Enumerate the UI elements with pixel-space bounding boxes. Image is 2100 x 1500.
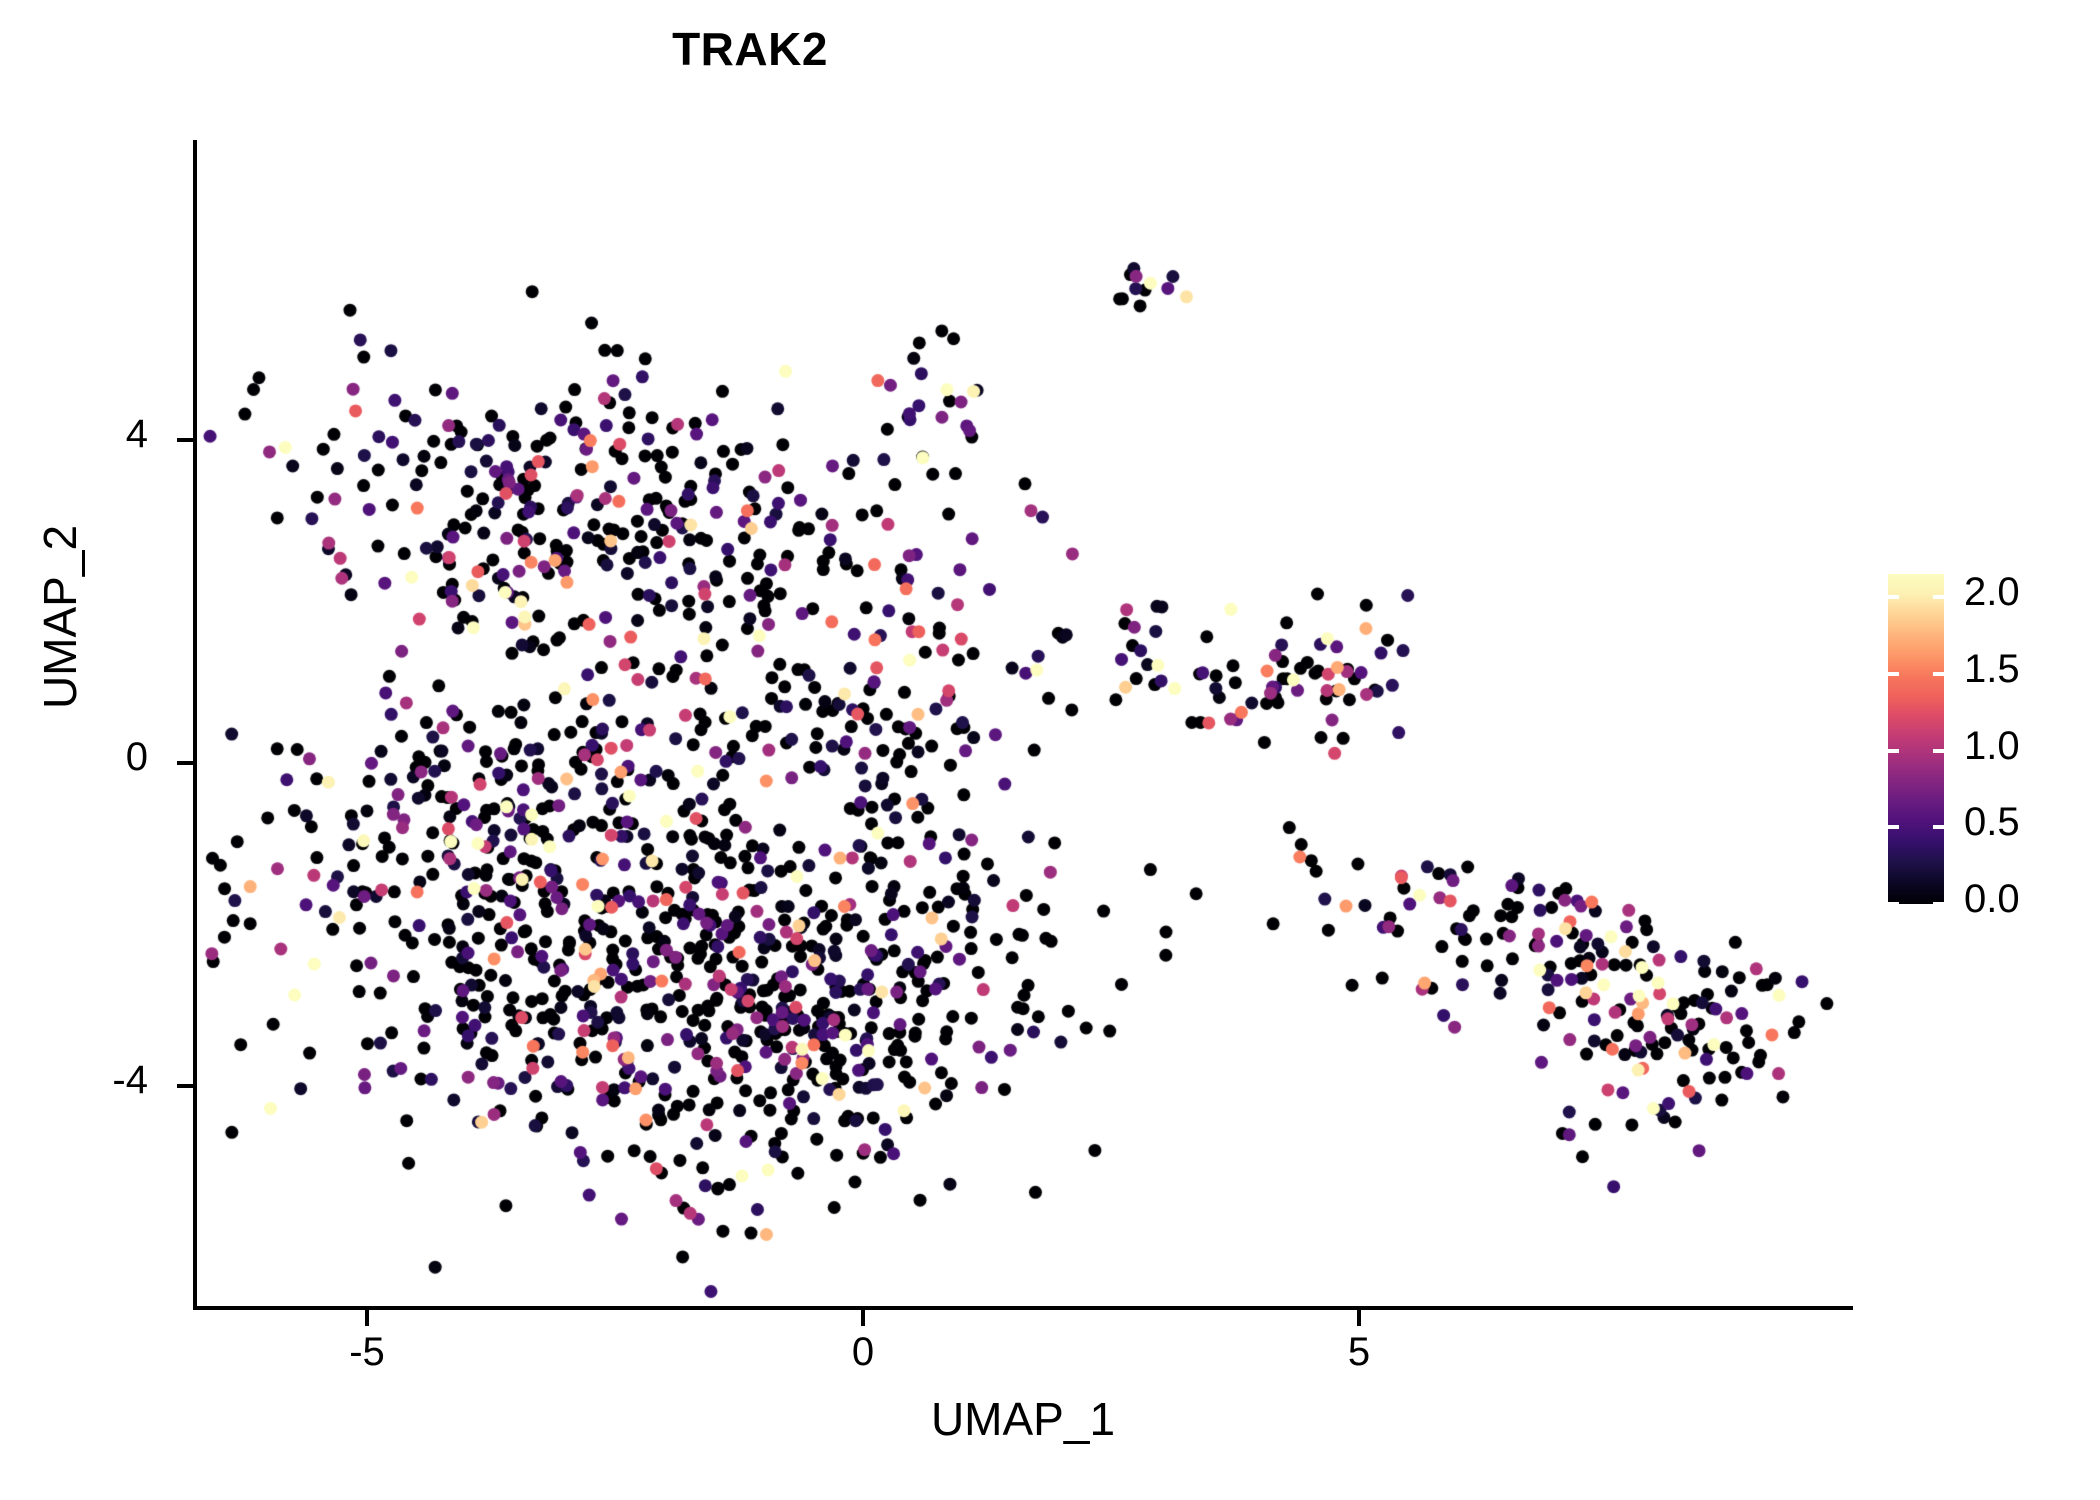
colorbar-tick-label: 1.0 xyxy=(1964,724,2094,769)
colorbar-tick-label: 0.5 xyxy=(1964,800,2094,845)
colorbar-tick-label: 0.0 xyxy=(1964,877,2094,922)
y-tick-label: -4 xyxy=(28,1058,148,1103)
colorbar-tick-mark xyxy=(1933,825,1944,829)
x-tick-label: -5 xyxy=(287,1330,447,1375)
colorbar-tick-mark xyxy=(1933,595,1944,599)
x-tick-label: 0 xyxy=(783,1330,943,1375)
plot-panel: UMAP_1 UMAP_2 -404-505 xyxy=(0,0,2100,1500)
colorbar-tick-mark xyxy=(1888,902,1899,906)
scatter-canvas xyxy=(0,0,2100,1500)
x-tick-mark xyxy=(1357,1310,1361,1326)
x-tick-label: 5 xyxy=(1279,1330,1439,1375)
y-tick-label: 4 xyxy=(28,412,148,457)
colorbar-tick-mark xyxy=(1888,595,1899,599)
y-tick-mark xyxy=(177,761,193,765)
y-tick-mark xyxy=(177,438,193,442)
colorbar-tick-mark xyxy=(1933,902,1944,906)
y-tick-mark xyxy=(177,1084,193,1088)
colorbar-gradient xyxy=(1888,574,1944,904)
colorbar-tick-mark xyxy=(1933,672,1944,676)
y-axis-line xyxy=(193,140,197,1310)
colorbar-tick-mark xyxy=(1933,749,1944,753)
x-axis-line xyxy=(193,1306,1853,1310)
y-tick-label: 0 xyxy=(28,735,148,780)
colorbar-tick-label: 2.0 xyxy=(1964,570,2094,615)
colorbar-tick-mark xyxy=(1888,749,1899,753)
x-axis-title: UMAP_1 xyxy=(193,1392,1853,1446)
x-tick-mark xyxy=(365,1310,369,1326)
colorbar-tick-mark xyxy=(1888,825,1899,829)
colorbar-tick-label: 1.5 xyxy=(1964,647,2094,692)
chart-root: TRAK2 UMAP_1 UMAP_2 -404-505 0.00.51.01.… xyxy=(0,0,2100,1500)
x-tick-mark xyxy=(861,1310,865,1326)
colorbar-tick-mark xyxy=(1888,672,1899,676)
